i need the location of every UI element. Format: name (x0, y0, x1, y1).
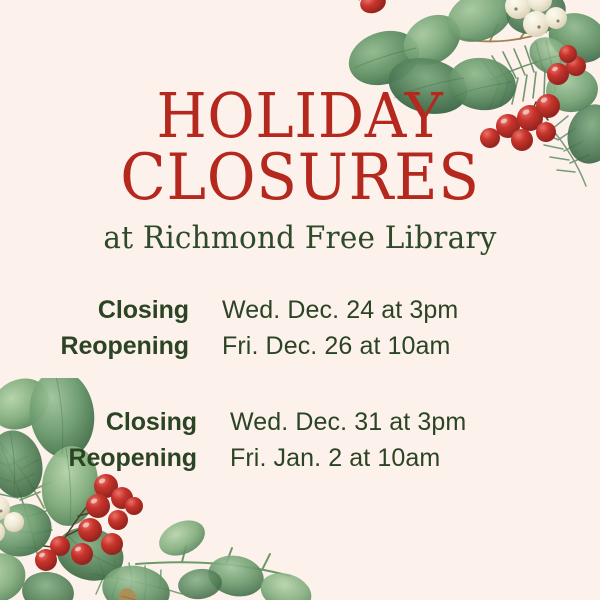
closing-value: Wed. Dec. 31 at 3pm (230, 408, 466, 437)
reopening-label: Reopening (0, 332, 222, 361)
reopening-label: Reopening (0, 444, 230, 473)
schedule-row: Closing Wed. Dec. 24 at 3pm (0, 296, 600, 332)
reopening-value: Fri. Jan. 2 at 10am (230, 444, 440, 473)
page-subtitle: at Richmond Free Library (15, 220, 585, 256)
closure-group-1: Closing Wed. Dec. 24 at 3pm Reopening Fr… (0, 296, 600, 368)
closure-group-2: Closing Wed. Dec. 31 at 3pm Reopening Fr… (0, 408, 600, 480)
reopening-value: Fri. Dec. 26 at 10am (222, 332, 450, 361)
schedule-row: Closing Wed. Dec. 31 at 3pm (0, 408, 600, 444)
page-title-line-2: CLOSURES (21, 148, 579, 209)
closing-value: Wed. Dec. 24 at 3pm (222, 296, 458, 325)
schedule-row: Reopening Fri. Jan. 2 at 10am (0, 444, 600, 480)
holiday-closure-poster: HOLIDAY CLOSURES at Richmond Free Librar… (0, 0, 600, 600)
closing-label: Closing (0, 296, 222, 325)
page-title-line-1: HOLIDAY (21, 86, 579, 146)
closure-schedule: Closing Wed. Dec. 24 at 3pm Reopening Fr… (0, 296, 600, 480)
schedule-row: Reopening Fri. Dec. 26 at 10am (0, 332, 600, 368)
closing-label: Closing (0, 408, 230, 437)
headline-block: HOLIDAY CLOSURES at Richmond Free Librar… (0, 86, 600, 256)
